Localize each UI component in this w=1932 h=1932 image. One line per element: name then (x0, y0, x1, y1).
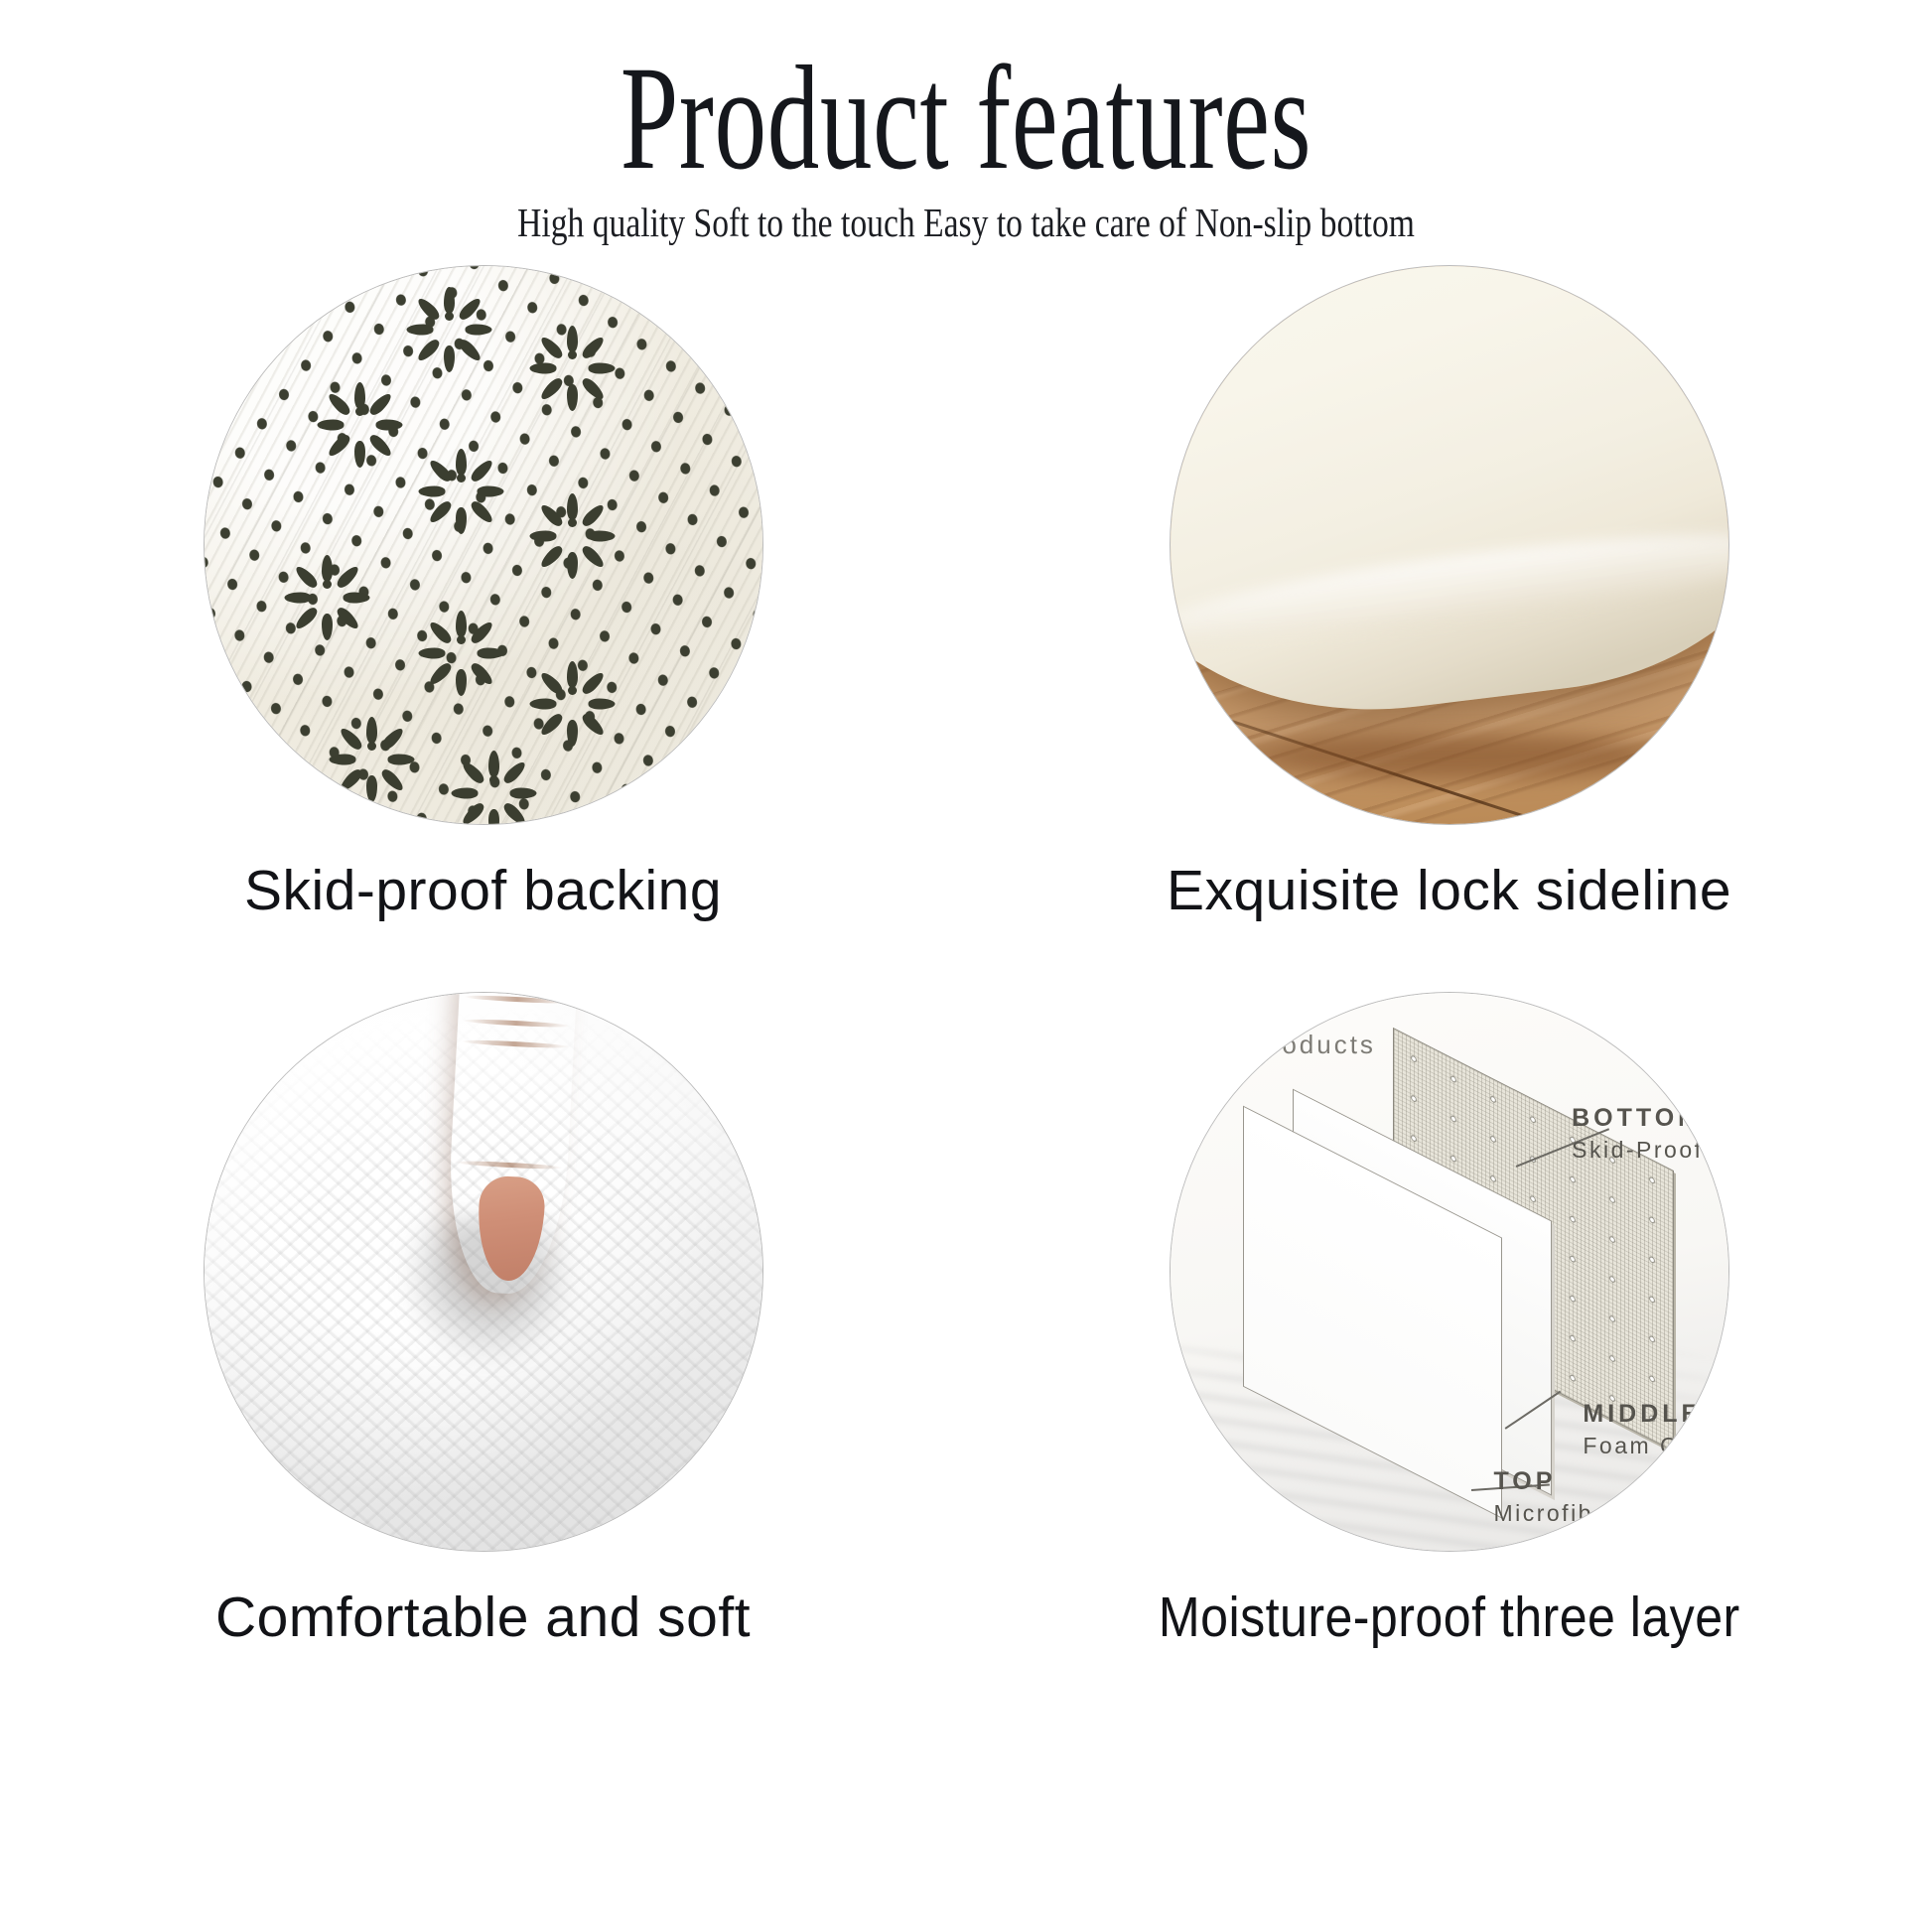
rosette-petal (580, 335, 607, 361)
rosette-petal (376, 419, 403, 430)
rosette-petal (538, 502, 565, 529)
rosette-center (367, 742, 376, 751)
rosette-center (568, 686, 577, 695)
rosette-petal (418, 648, 445, 659)
rosette-petal (460, 759, 486, 785)
fingertip (475, 1174, 545, 1282)
rosette-petal (418, 486, 445, 497)
feature-caption-comfortable-and-soft: Comfortable and soft (215, 1585, 751, 1650)
feature-image-exquisite-lock-sideline[interactable] (1171, 266, 1728, 824)
feature-card-exquisite-lock-sideline[interactable]: Exquisite lock sideline (966, 266, 1932, 923)
rosette-center (355, 407, 364, 416)
layer-label-bottom-material: Skid-Proof (1572, 1137, 1703, 1164)
rosette-petal (293, 564, 320, 591)
rosette-center (457, 635, 466, 644)
rosette-petal (387, 754, 414, 764)
rosette-petal (366, 775, 377, 802)
rosette-petal (427, 458, 454, 484)
page-header: Product features High quality Soft to th… (0, 0, 1932, 246)
rosette-petal (567, 493, 578, 520)
flower-rosette (452, 737, 537, 822)
rosette-petal (343, 592, 369, 603)
rosette-petal (501, 800, 528, 824)
layer-label-middle-material: Foam Cushi (1583, 1433, 1727, 1459)
knuckle-crease (455, 1160, 563, 1171)
feature-image-comfortable-and-soft[interactable] (205, 993, 762, 1551)
mat-drop-shadow (1181, 735, 1728, 785)
feature-image-moisture-proof-three-layer[interactable]: roducts BOTTOM Skid-Proof MIDDLE Foam Cu… (1171, 993, 1728, 1551)
rosette-petal (456, 449, 467, 476)
flower-rosette (284, 541, 369, 626)
feature-caption-exquisite-lock-sideline: Exquisite lock sideline (1167, 858, 1731, 923)
feature-caption-moisture-proof-three-layer: Moisture-proof three layer (1159, 1585, 1740, 1650)
rosette-petal (588, 698, 615, 709)
rosette-petal (452, 787, 479, 798)
layer-label-bottom: BOTTOM Skid-Proof (1572, 1104, 1703, 1164)
feature-caption-skid-proof-backing: Skid-proof backing (244, 858, 722, 923)
rosette-petal (477, 486, 503, 497)
layer-label-middle: MIDDLE Foam Cushi (1583, 1400, 1727, 1459)
rosette-petal (588, 531, 615, 542)
rosette-petal (538, 335, 565, 361)
flower-rosette (529, 647, 615, 733)
rosette-center (568, 350, 577, 359)
rosette-petal (338, 726, 364, 753)
layer-label-top: TOP Microfiber S (1493, 1467, 1645, 1527)
knuckle-crease (464, 994, 572, 1005)
rosette-petal (460, 800, 486, 824)
rosette-petal (501, 759, 528, 785)
flower-rosette (529, 481, 615, 566)
rosette-petal (284, 592, 311, 603)
rosette-petal (329, 754, 355, 764)
layer-label-top-level: TOP (1493, 1467, 1645, 1496)
rosette-petal (318, 419, 345, 430)
layer-label-middle-level: MIDDLE (1583, 1400, 1727, 1429)
rosette-petal (488, 751, 499, 777)
flower-rosette (407, 274, 492, 359)
rosette-petal (567, 720, 578, 747)
page-subtitle: High quality Soft to the touch Easy to t… (174, 199, 1758, 246)
flower-rosette (418, 598, 503, 683)
flower-rosette (318, 368, 403, 454)
rosette-petal (529, 698, 556, 709)
rosette-petal (379, 726, 406, 753)
knuckle-crease (462, 1019, 570, 1030)
rosette-petal (322, 555, 333, 582)
rosette-petal (580, 502, 607, 529)
rosette-center (457, 474, 466, 483)
feature-card-comfortable-and-soft[interactable]: Comfortable and soft (0, 993, 966, 1650)
rosette-petal (466, 325, 492, 336)
rosette-petal (354, 382, 365, 409)
rosette-center (568, 518, 577, 527)
mat-locked-edge-highlight (1171, 514, 1728, 659)
rosette-petal (468, 620, 494, 646)
rosette-petal (457, 296, 483, 323)
layer-label-top-material: Microfiber S (1493, 1500, 1645, 1527)
diagram-watermark: roducts (1271, 1030, 1376, 1060)
rosette-petal (529, 363, 556, 374)
flower-rosette (529, 313, 615, 398)
rosette-petal (567, 326, 578, 352)
feature-card-skid-proof-backing[interactable]: Skid-proof backing (0, 266, 966, 923)
rosette-petal (327, 390, 353, 417)
rosette-petal (366, 717, 377, 744)
rosette-petal (335, 564, 361, 591)
feature-grid: Skid-proof backing Exquisite lock sideli… (0, 266, 1932, 1650)
rosette-center (489, 775, 498, 784)
layer-label-bottom-level: BOTTOM (1572, 1104, 1703, 1133)
rosette-petal (510, 787, 537, 798)
rosette-petal (456, 611, 467, 637)
rosette-petal (407, 325, 434, 336)
page-title: Product features (290, 44, 1642, 193)
feature-image-skid-proof-backing[interactable] (205, 266, 762, 824)
rosette-petal (427, 620, 454, 646)
rosette-petal (444, 287, 455, 314)
feature-card-moisture-proof-three-layer[interactable]: roducts BOTTOM Skid-Proof MIDDLE Foam Cu… (966, 993, 1932, 1650)
flower-rosette (418, 436, 503, 521)
rosette-petal (415, 296, 442, 323)
rosette-petal (567, 661, 578, 688)
rosette-petal (477, 648, 503, 659)
rosette-center (445, 312, 454, 321)
rosette-petal (580, 669, 607, 696)
rosette-petal (456, 669, 467, 696)
rosette-petal (538, 669, 565, 696)
rosette-petal (468, 458, 494, 484)
knuckle-crease (461, 1038, 569, 1049)
flower-rosette (329, 703, 414, 788)
rosette-center (323, 580, 332, 589)
rosette-petal (456, 507, 467, 534)
rosette-petal (529, 531, 556, 542)
rosette-petal (367, 390, 394, 417)
rosette-petal (322, 614, 333, 640)
rosette-petal (488, 809, 499, 824)
rosette-petal (588, 363, 615, 374)
